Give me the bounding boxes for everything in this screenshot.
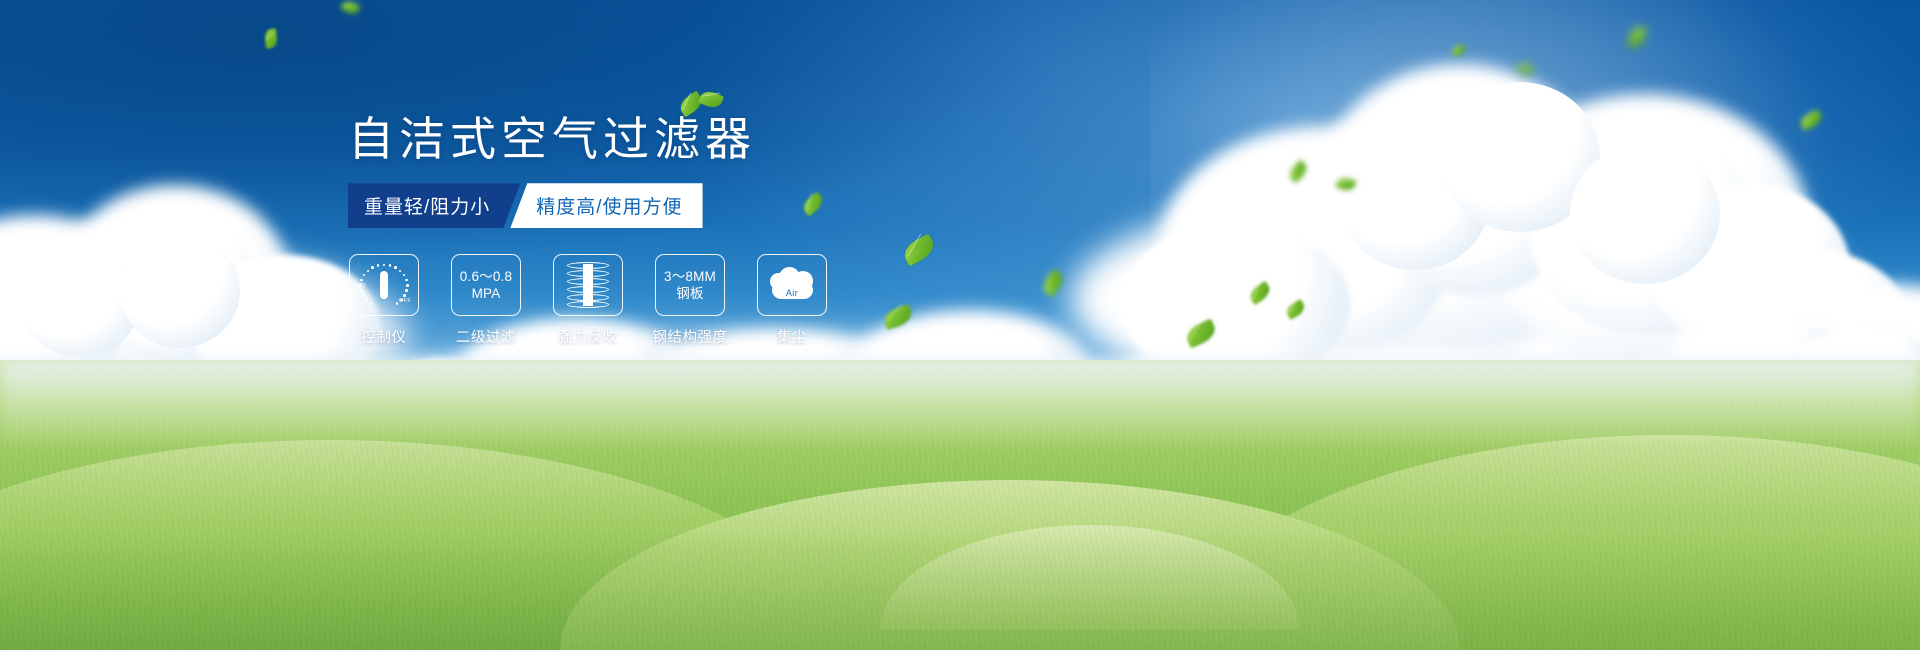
- steel-thickness: 3～8MM: [664, 268, 716, 285]
- feature-label: 集尘: [777, 326, 807, 347]
- pressure-value: 0.6～0.8: [460, 268, 512, 285]
- badge-precision-convenience: 精度高/使用方便: [510, 183, 702, 228]
- feature-label: 二级过滤: [456, 326, 516, 347]
- feature-dust-collection: Air 集尘: [756, 254, 828, 347]
- feature-icon-box: 0.6～0.8 MPA: [451, 254, 521, 316]
- banner-content: 自洁式空气过滤器 重量轻/阻力小 精度高/使用方便: [348, 112, 1108, 347]
- feature-icon-box: 3～8MM 钢板: [655, 254, 725, 316]
- page-title: 自洁式空气过滤器: [348, 112, 1108, 166]
- feature-label: 钢结构强度: [652, 326, 728, 347]
- feature-icon-box: NO OFF: [349, 254, 419, 316]
- feature-two-stage-filter: 0.6～0.8 MPA 二级过滤: [450, 254, 522, 347]
- gauge-label-no: NO: [357, 283, 366, 289]
- steel-material: 钢板: [676, 285, 703, 302]
- horizon-haze: [0, 358, 1920, 448]
- feature-label: 控制仪: [361, 326, 406, 347]
- pressure-unit: MPA: [472, 285, 501, 302]
- banner-stage: 自洁式空气过滤器 重量轻/阻力小 精度高/使用方便: [0, 0, 1920, 650]
- air-label: Air: [768, 288, 816, 298]
- feature-row: NO OFF 控制仪 0.6～0.8 MPA 二级过滤: [348, 254, 1108, 347]
- feature-label: 强力反吹: [558, 326, 618, 347]
- feature-steel-structure: 3～8MM 钢板 钢结构强度: [654, 254, 726, 347]
- gauge-label-off: OFF: [399, 298, 411, 304]
- badge-weight-resistance: 重量轻/阻力小: [348, 183, 520, 228]
- feature-controller: NO OFF 控制仪: [348, 254, 420, 347]
- filter-stack-icon: [567, 262, 609, 308]
- gauge-icon: NO OFF: [358, 263, 410, 307]
- grass-shading: [0, 530, 1920, 650]
- badge-row: 重量轻/阻力小 精度高/使用方便: [348, 183, 1108, 228]
- air-cloud-icon: Air: [768, 265, 816, 305]
- gauge-needle: [380, 271, 388, 299]
- feature-icon-box: [553, 254, 623, 316]
- feature-strong-backblow: 强力反吹: [552, 254, 624, 347]
- feature-icon-box: Air: [757, 254, 827, 316]
